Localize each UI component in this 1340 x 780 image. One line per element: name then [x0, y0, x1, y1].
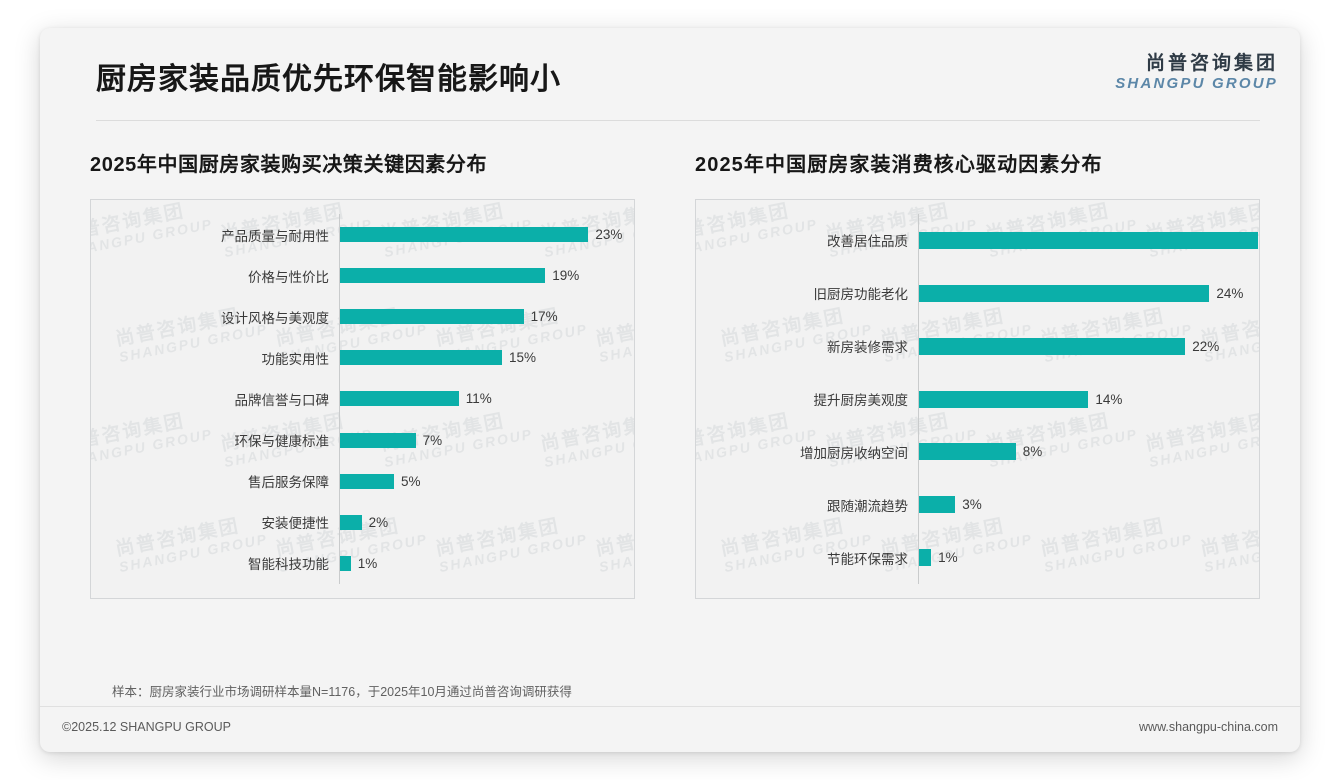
bar	[340, 391, 459, 406]
bar	[919, 338, 1185, 355]
bar	[919, 391, 1088, 408]
bar-track: 24%	[918, 267, 1249, 320]
bar-value-label: 22%	[1192, 339, 1219, 354]
chart-panel-left: 尚普咨询集团SHANGPU GROUP尚普咨询集团SHANGPU GROUP尚普…	[90, 199, 635, 599]
copyright-text: ©2025.12 SHANGPU GROUP	[62, 720, 231, 734]
bar-category-label: 旧厨房功能老化	[696, 283, 918, 303]
bar-track: 8%	[918, 425, 1249, 478]
logo-chinese-text: 尚普咨询集团	[1115, 54, 1278, 74]
bar-row: 功能实用性15%	[91, 337, 624, 378]
bar-value-label: 24%	[1216, 286, 1243, 301]
bar-category-label: 售后服务保障	[91, 471, 339, 491]
page-title: 厨房家装品质优先环保智能影响小	[96, 54, 561, 98]
slide: 厨房家装品质优先环保智能影响小 尚普咨询集团 SHANGPU GROUP 202…	[40, 28, 1300, 752]
bar-track: 14%	[918, 373, 1249, 426]
bar-category-label: 产品质量与耐用性	[91, 225, 339, 245]
bar-value-label: 15%	[509, 350, 536, 365]
bar	[919, 232, 1258, 249]
bar	[919, 443, 1016, 460]
bar-value-label: 17%	[531, 309, 558, 324]
bar-category-label: 智能科技功能	[91, 553, 339, 573]
bar-category-label: 安装便捷性	[91, 512, 339, 532]
bar-row: 旧厨房功能老化24%	[696, 267, 1249, 320]
bar-track: 3%	[918, 478, 1249, 531]
bar-track: 5%	[339, 461, 624, 502]
bar-value-label: 2%	[369, 515, 389, 530]
bar	[919, 549, 931, 566]
bar-value-label: 3%	[962, 497, 982, 512]
chart-block-right: 2025年中国厨房家装消费核心驱动因素分布 尚普咨询集团SHANGPU GROU…	[695, 148, 1260, 599]
bar-row: 智能科技功能1%	[91, 543, 624, 584]
bar-row: 新房装修需求22%	[696, 320, 1249, 373]
bar-row: 产品质量与耐用性23%	[91, 214, 624, 255]
bar	[340, 268, 545, 283]
bar-row: 环保与健康标准7%	[91, 420, 624, 461]
bar-category-label: 功能实用性	[91, 348, 339, 368]
bar	[340, 309, 524, 324]
bar-value-label: 7%	[423, 433, 443, 448]
bar-row: 节能环保需求1%	[696, 531, 1249, 584]
charts-container: 2025年中国厨房家装购买决策关键因素分布 尚普咨询集团SHANGPU GROU…	[40, 148, 1300, 668]
bar-track: 28%	[918, 214, 1260, 267]
bar-track: 7%	[339, 420, 624, 461]
bar-track: 23%	[339, 214, 624, 255]
slide-footer: ©2025.12 SHANGPU GROUP www.shangpu-china…	[40, 706, 1300, 752]
bar-track: 22%	[918, 320, 1249, 373]
bar	[340, 433, 416, 448]
bar-category-label: 改善居住品质	[696, 230, 918, 250]
bar-value-label: 19%	[552, 268, 579, 283]
bar-chart-left: 产品质量与耐用性23%价格与性价比19%设计风格与美观度17%功能实用性15%品…	[91, 200, 634, 598]
bar-row: 售后服务保障5%	[91, 461, 624, 502]
bar	[919, 285, 1209, 302]
bar-category-label: 品牌信誉与口碑	[91, 389, 339, 409]
bar-category-label: 环保与健康标准	[91, 430, 339, 450]
website-url: www.shangpu-china.com	[1139, 720, 1278, 734]
bar	[340, 474, 394, 489]
bar-category-label: 提升厨房美观度	[696, 389, 918, 409]
bar-category-label: 节能环保需求	[696, 548, 918, 568]
header-divider	[96, 120, 1260, 121]
chart-block-left: 2025年中国厨房家装购买决策关键因素分布 尚普咨询集团SHANGPU GROU…	[90, 148, 635, 599]
logo-english-text: SHANGPU GROUP	[1115, 76, 1278, 92]
bar	[340, 515, 362, 530]
bar-track: 1%	[918, 531, 1249, 584]
bar-track: 1%	[339, 543, 624, 584]
bar-row: 安装便捷性2%	[91, 502, 624, 543]
bar-track: 11%	[339, 378, 624, 419]
slide-header: 厨房家装品质优先环保智能影响小 尚普咨询集团 SHANGPU GROUP	[40, 28, 1300, 120]
bar-value-label: 1%	[358, 556, 378, 571]
bar-category-label: 新房装修需求	[696, 336, 918, 356]
bar-category-label: 增加厨房收纳空间	[696, 442, 918, 462]
bar-value-label: 1%	[938, 550, 958, 565]
bar-value-label: 11%	[466, 391, 492, 406]
brand-logo: 尚普咨询集团 SHANGPU GROUP	[1115, 54, 1278, 92]
bar-category-label: 设计风格与美观度	[91, 307, 339, 327]
bar-chart-right: 改善居住品质28%旧厨房功能老化24%新房装修需求22%提升厨房美观度14%增加…	[696, 200, 1259, 598]
chart-title-left: 2025年中国厨房家装购买决策关键因素分布	[90, 148, 635, 177]
bar-track: 2%	[339, 502, 624, 543]
bar	[340, 350, 502, 365]
bar-category-label: 价格与性价比	[91, 266, 339, 286]
bar-track: 17%	[339, 296, 624, 337]
bar-track: 15%	[339, 337, 624, 378]
bar-row: 品牌信誉与口碑11%	[91, 378, 624, 419]
bar-row: 价格与性价比19%	[91, 255, 624, 296]
bar-track: 19%	[339, 255, 624, 296]
chart-panel-right: 尚普咨询集团SHANGPU GROUP尚普咨询集团SHANGPU GROUP尚普…	[695, 199, 1260, 599]
sample-footnote: 样本：厨房家装行业市场调研样本量N=1176，于2025年10月通过尚普咨询调研…	[112, 681, 572, 700]
bar-value-label: 5%	[401, 474, 421, 489]
bar-value-label: 14%	[1095, 392, 1122, 407]
bar-row: 设计风格与美观度17%	[91, 296, 624, 337]
bar-value-label: 23%	[595, 227, 622, 242]
bar-row: 提升厨房美观度14%	[696, 373, 1249, 426]
bar-row: 跟随潮流趋势3%	[696, 478, 1249, 531]
bar-category-label: 跟随潮流趋势	[696, 495, 918, 515]
bar-value-label: 8%	[1023, 444, 1043, 459]
bar	[340, 227, 588, 242]
bar	[919, 496, 955, 513]
bar-row: 改善居住品质28%	[696, 214, 1249, 267]
bar	[340, 556, 351, 571]
chart-title-right: 2025年中国厨房家装消费核心驱动因素分布	[695, 148, 1260, 177]
bar-row: 增加厨房收纳空间8%	[696, 425, 1249, 478]
